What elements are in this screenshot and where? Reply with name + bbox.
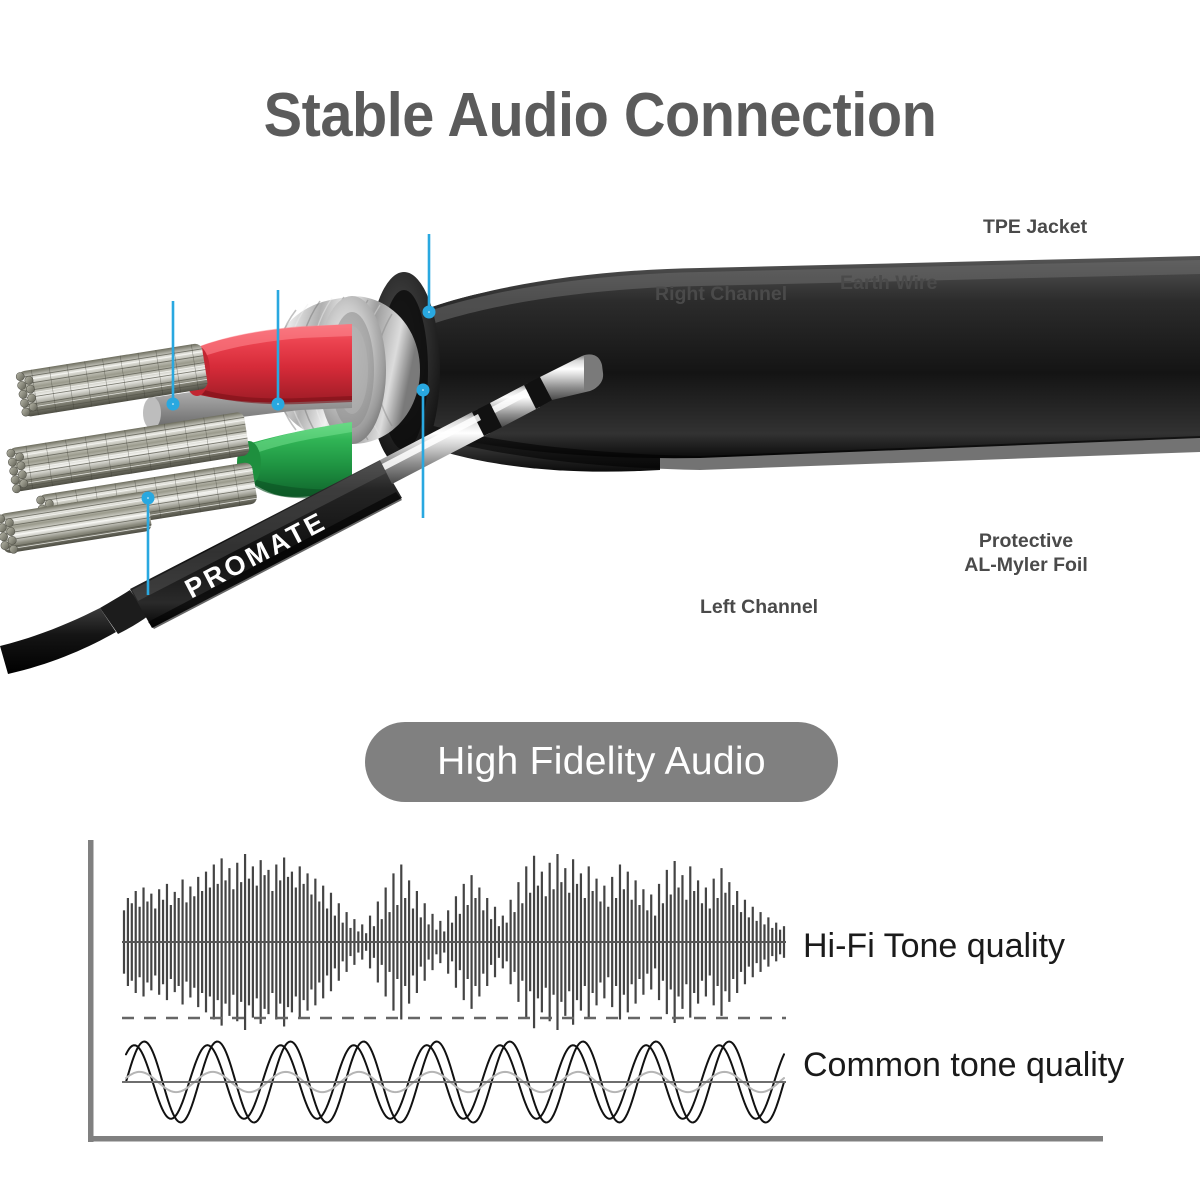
- callout-label-left-channel: Left Channel: [700, 596, 818, 620]
- x-axis: [88, 1136, 1103, 1142]
- waveform-comparison-chart: [0, 830, 1200, 1170]
- cable-cord: [0, 608, 116, 674]
- page-title: Stable Audio Connection: [42, 80, 1158, 151]
- cable-cutaway-illustration: PROMATE: [0, 170, 1200, 690]
- audio-cable-diagram: PROMATE: [0, 170, 1200, 690]
- y-axis: [88, 840, 94, 1142]
- callout-label-protective-foil: Protective AL-Myler Foil: [941, 530, 1111, 578]
- callout-foil-line1: Protective: [941, 530, 1111, 554]
- series-label-hifi: Hi-Fi Tone quality: [803, 927, 1065, 966]
- callout-label-right-channel: Right Channel: [655, 283, 787, 307]
- chart-svg: [0, 830, 1200, 1170]
- high-fidelity-audio-badge: High Fidelity Audio: [365, 722, 838, 802]
- callout-foil-line2: AL-Myler Foil: [941, 554, 1111, 578]
- series-label-common: Common tone quality: [803, 1046, 1124, 1085]
- callout-label-tpe-jacket: TPE Jacket: [983, 216, 1087, 240]
- callout-label-earth-wire: Earth Wire: [840, 272, 937, 296]
- jacket-body: [392, 256, 1200, 458]
- badge-label: High Fidelity Audio: [437, 740, 766, 784]
